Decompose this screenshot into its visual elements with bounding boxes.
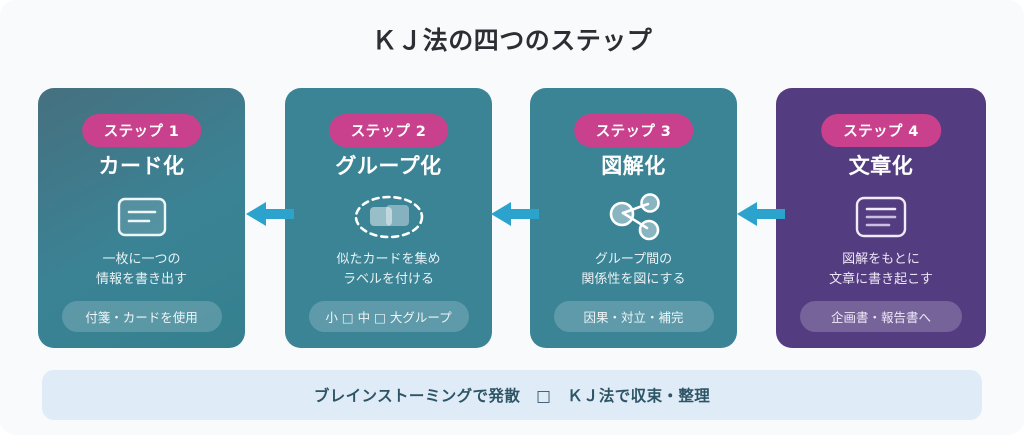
step-desc-4-line1: 図解をもとに: [842, 252, 920, 267]
step-desc-1-line2: 情報を書き出す: [38, 270, 245, 290]
summary-banner: ブレインストーミングで発散 □ ＫＪ法で収束・整理: [42, 370, 982, 420]
step-title-2: グループ化: [285, 150, 492, 180]
step-card-1[interactable]: ステップ 1 カード化 一枚に一つの 情報を書き出す 付箋・カードを使用: [38, 88, 245, 348]
step-pill-1: 付箋・カードを使用: [62, 301, 222, 332]
arrow-step4-to-step3-icon: [737, 198, 785, 230]
step-badge-4: ステップ 4: [821, 114, 941, 147]
step-title-3: 図解化: [530, 150, 737, 180]
step-desc-3-line2: 関係性を図にする: [530, 270, 737, 290]
step-badge-1: ステップ 1: [82, 114, 202, 147]
step-desc-2-line2: ラベルを付ける: [285, 270, 492, 290]
step-pill-3: 因果・対立・補完: [554, 301, 714, 332]
document-lines-icon: [776, 186, 986, 248]
step-desc-1-line1: 一枚に一つの: [102, 252, 180, 267]
card-lines-icon: [38, 186, 245, 248]
step-title-4: 文章化: [776, 150, 986, 180]
step-pill-4: 企画書・報告書へ: [800, 301, 962, 332]
infographic-canvas: ＫＪ法の四つのステップ ステップ 1 カード化 一枚に一つの 情報を書き出す 付…: [0, 0, 1024, 435]
step-desc-4: 図解をもとに 文章に書き起こす: [776, 250, 986, 290]
step-card-4[interactable]: ステップ 4 文章化 図解をもとに 文章に書き起こす 企画書・報告書へ: [776, 88, 986, 348]
step-desc-3-line1: グループ間の: [595, 252, 672, 267]
arrow-step3-to-step2-icon: [491, 198, 539, 230]
step-badge-2: ステップ 2: [329, 114, 449, 147]
step-desc-1: 一枚に一つの 情報を書き出す: [38, 250, 245, 290]
node-graph-icon: [530, 186, 737, 248]
step-desc-3: グループ間の 関係性を図にする: [530, 250, 737, 290]
step-pill-2: 小 □ 中 □ 大グループ: [309, 301, 469, 332]
step-card-2[interactable]: ステップ 2 グループ化 似たカードを集め ラベルを付ける 小 □ 中 □ 大グ…: [285, 88, 492, 348]
step-desc-4-line2: 文章に書き起こす: [776, 270, 986, 290]
step-desc-2: 似たカードを集め ラベルを付ける: [285, 250, 492, 290]
grouped-cards-icon: [285, 186, 492, 248]
step-title-1: カード化: [38, 150, 245, 180]
step-badge-3: ステップ 3: [574, 114, 694, 147]
page-title: ＫＪ法の四つのステップ: [0, 21, 1024, 57]
arrow-step2-to-step1-icon: [246, 198, 294, 230]
summary-banner-text: ブレインストーミングで発散 □ ＫＪ法で収束・整理: [314, 384, 710, 406]
step-desc-2-line1: 似たカードを集め: [336, 252, 440, 267]
step-card-3[interactable]: ステップ 3 図解化 グループ間の 関係性を図にする 因果・対立・補完: [530, 88, 737, 348]
